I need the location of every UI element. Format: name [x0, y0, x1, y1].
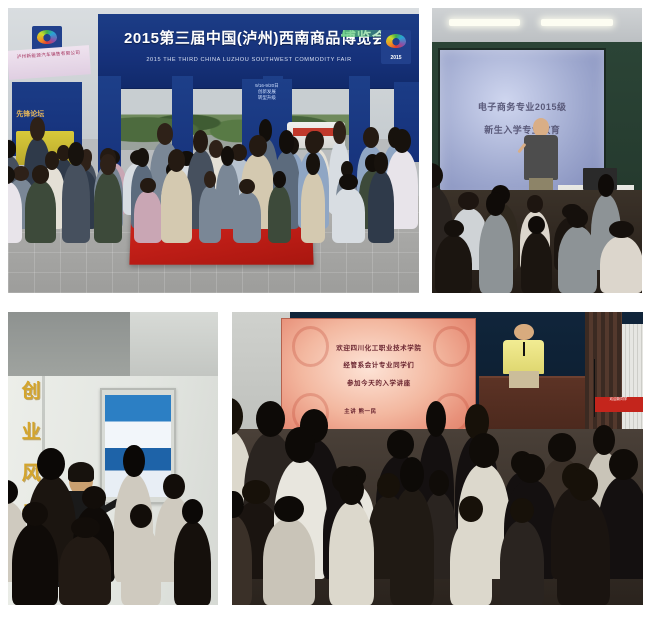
sponsor-banner: 泸州新能源汽车销售有限公司: [8, 45, 91, 79]
slide-line-1: 电子商务专业2015级: [440, 100, 604, 113]
calligraphy-char: 创: [22, 382, 41, 401]
photo-classroom-orientation: 电子商务专业2015级 新生入学专业教育: [432, 8, 642, 293]
person-head: [569, 468, 599, 501]
person-head: [400, 457, 425, 492]
person-figure: [600, 236, 642, 293]
person-figure: [94, 172, 122, 243]
person-head: [363, 127, 379, 148]
projection-screen: 电子商务专业2015级 新生入学专业教育: [438, 48, 606, 200]
person-head: [168, 149, 185, 171]
expo-rainbow-ring-icon: [37, 30, 57, 44]
wall-tile-panel: [622, 324, 643, 429]
person-figure: [558, 226, 597, 293]
person-figure: [332, 188, 365, 243]
person-head: [548, 433, 576, 461]
person-head: [387, 430, 415, 459]
person-head: [567, 208, 589, 228]
person-figure: [521, 232, 552, 293]
person-figure: [25, 181, 56, 242]
slide-line-2: 经管系会计专业同学们: [282, 359, 475, 369]
photo-auditorium-lecture: 欢迎四川化工职业技术学院 经管系会计专业同学们 参加今天的入学讲座 主讲 熊一民…: [232, 312, 643, 605]
instructor-torso: [524, 135, 558, 180]
person-head: [249, 135, 267, 158]
person-head: [598, 174, 615, 197]
ceiling-light: [541, 19, 612, 26]
person-figure: [134, 191, 162, 243]
person-head: [593, 425, 615, 455]
person-head: [242, 480, 270, 503]
person-head: [37, 448, 65, 480]
person-head: [157, 123, 173, 145]
expo-logo-right-icon: 2015: [381, 30, 411, 64]
person-figure: [161, 169, 192, 243]
speaker-head: [514, 324, 534, 341]
seated-audience: [432, 190, 642, 293]
person-figure: [12, 523, 58, 605]
person-head: [100, 154, 116, 175]
person-head: [130, 504, 152, 528]
person-head: [273, 171, 286, 188]
person-head: [339, 174, 357, 190]
person-head: [45, 151, 59, 170]
person-figure: [368, 171, 394, 243]
person-figure: [233, 192, 261, 243]
microphone-stand-icon: [594, 359, 596, 418]
person-head: [163, 474, 184, 500]
photo-collage: 2015第三届中国(泸州)西南商品博览会 2015 THE THIRD CHIN…: [0, 0, 650, 619]
person-head: [279, 130, 295, 154]
photo-expo-gate-group: 2015第三届中国(泸州)西南商品博览会 2015 THE THIRD CHIN…: [8, 8, 419, 293]
person-head: [68, 142, 83, 166]
person-head: [8, 480, 18, 504]
calligraphy-char: 业: [22, 423, 41, 442]
person-head: [256, 401, 285, 437]
gate-pillar-slogan-2: 转型升级: [242, 95, 291, 101]
slide-line-1: 欢迎四川化工职业技术学院: [282, 342, 475, 352]
person-figure: [329, 501, 374, 605]
student-crowd: [8, 133, 419, 247]
welcome-side-banner: 欢迎新同学: [594, 397, 643, 412]
standing-audience: [8, 476, 218, 605]
gate-title-en: 2015 THE THIRD CHINA LUZHOU SOUTHWEST CO…: [124, 57, 374, 63]
person-head: [30, 117, 45, 140]
person-figure: [390, 487, 434, 605]
expo-gate-header: 2015第三届中国(泸州)西南商品博览会 2015 THE THIRD CHIN…: [98, 14, 419, 89]
person-head: [32, 165, 49, 183]
microphone-stand-icon: [523, 342, 525, 356]
person-figure: [435, 235, 472, 293]
photo-corridor-poster-talk: 创 业 风 云 榜: [8, 312, 218, 605]
person-head: [221, 146, 234, 166]
person-head: [8, 140, 16, 158]
person-figure: [62, 163, 89, 243]
person-figure: [174, 521, 212, 605]
person-head: [140, 178, 156, 194]
person-figure: [263, 518, 315, 605]
person-head: [426, 401, 446, 437]
ceiling-light-panel: [130, 312, 218, 376]
person-head: [393, 129, 411, 153]
person-figure: [557, 496, 610, 605]
stage-curtain: [585, 312, 622, 435]
slide-line-3: 参加今天的入学讲座: [282, 377, 475, 387]
person-head: [609, 449, 637, 480]
person-head: [469, 433, 499, 468]
person-figure: [268, 186, 291, 243]
expo-logo-right-text: 2015: [381, 56, 411, 62]
person-head: [239, 179, 254, 194]
person-head: [609, 221, 633, 238]
person-figure: [500, 520, 544, 605]
person-head: [274, 496, 303, 522]
person-figure: [121, 525, 161, 605]
person-head: [306, 153, 320, 174]
person-head: [182, 499, 203, 524]
person-figure: [199, 186, 221, 243]
person-head: [459, 496, 483, 522]
slide-line-2: 新生入学专业教育: [440, 123, 604, 136]
person-figure: [479, 213, 513, 293]
person-figure: [59, 535, 111, 605]
expo-rainbow-ring-icon: [386, 34, 406, 48]
seated-audience: [232, 429, 643, 605]
person-head: [458, 192, 479, 211]
speaker-figure: [503, 324, 544, 388]
person-head: [123, 445, 145, 478]
speaker-trousers: [509, 371, 539, 388]
person-head: [82, 486, 106, 509]
person-head: [527, 195, 543, 213]
person-head: [429, 470, 449, 496]
person-head: [71, 517, 100, 538]
person-head: [22, 502, 48, 527]
person-head: [333, 121, 345, 143]
person-head: [193, 130, 209, 154]
person-figure: [301, 172, 325, 243]
person-head: [13, 166, 29, 181]
person-head: [377, 473, 400, 498]
gate-title-cn: 2015第三届中国(泸州)西南商品博览会: [124, 27, 374, 48]
person-head: [374, 152, 389, 174]
person-head: [204, 171, 216, 188]
ceiling-light: [449, 19, 520, 26]
person-figure: [450, 519, 492, 605]
slide-presenter-credit: 主讲 熊一民: [344, 407, 377, 415]
person-head: [339, 474, 364, 505]
person-head: [136, 148, 149, 167]
